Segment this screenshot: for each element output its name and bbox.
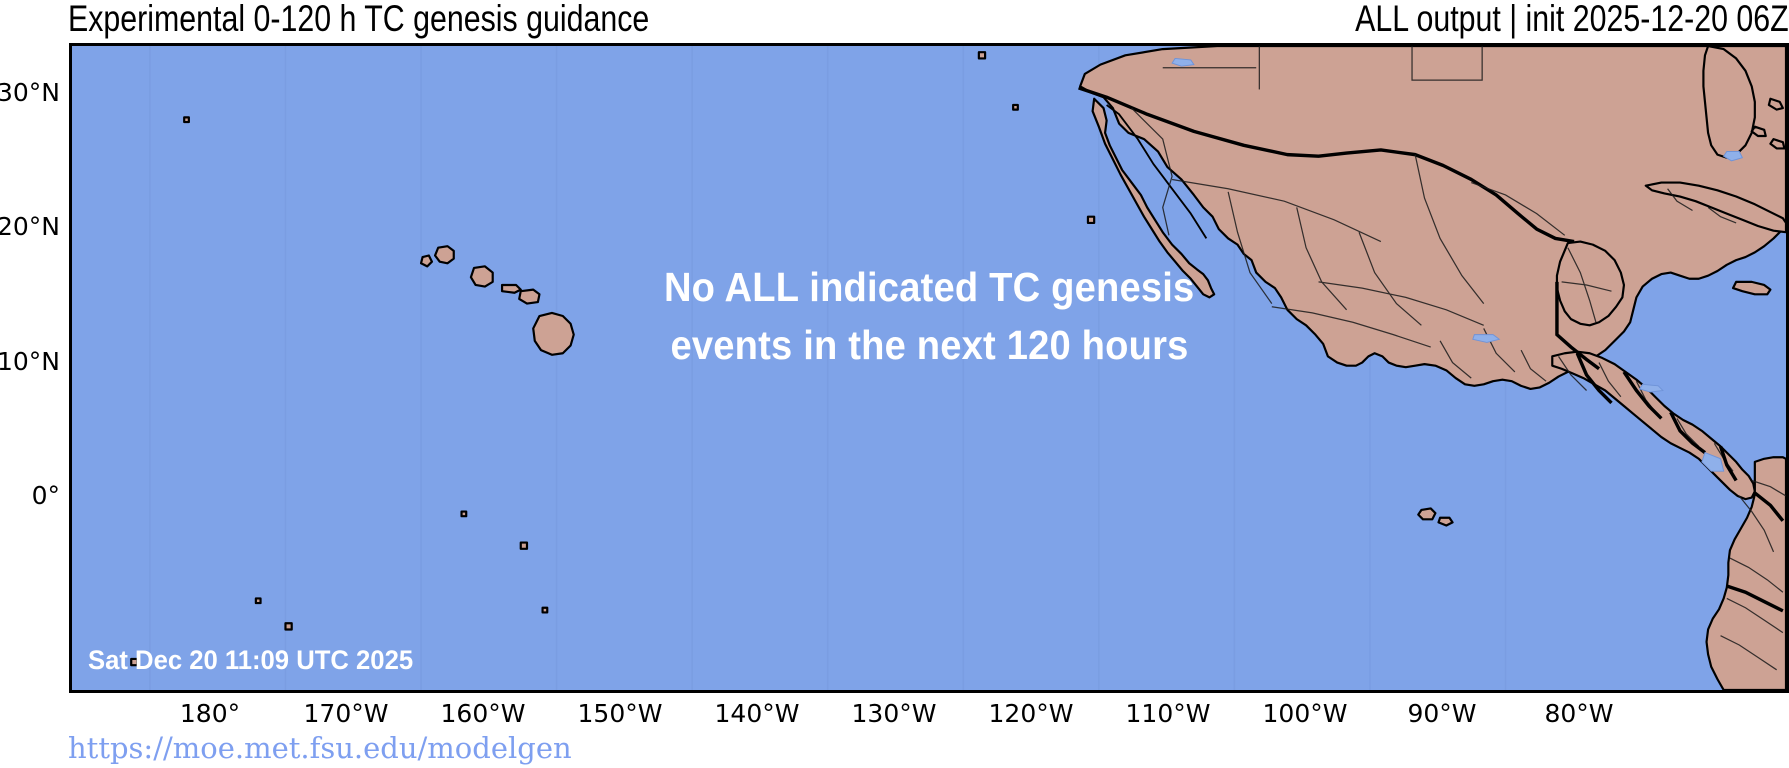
x-tick-0: 180° (180, 699, 240, 728)
x-tick-3: 150°W (578, 699, 663, 728)
y-tick-0: 30°N (0, 78, 60, 107)
x-tick-2: 160°W (441, 699, 526, 728)
header-bar: Experimental 0-120 h TC genesis guidance… (0, 0, 1789, 46)
tc-genesis-map-page: Experimental 0-120 h TC genesis guidance… (0, 0, 1789, 768)
x-tick-4: 140°W (715, 699, 800, 728)
hawaii-molokai (502, 285, 521, 293)
x-tick-8: 100°W (1263, 699, 1348, 728)
y-tick-1: 20°N (0, 212, 60, 241)
hawaii-niihau (421, 255, 432, 266)
y-tick-2: 10°N (0, 347, 60, 376)
page-title: Experimental 0-120 h TC genesis guidance (68, 0, 649, 40)
x-tick-1: 170°W (304, 699, 389, 728)
map-geography (72, 46, 1786, 690)
hawaii-maui (519, 290, 539, 304)
map-plot-area[interactable]: No ALL indicated TC genesis events in th… (69, 43, 1789, 693)
x-tick-5: 130°W (852, 699, 937, 728)
hawaii-kauai (435, 246, 454, 263)
x-tick-9: 90°W (1407, 699, 1476, 728)
timestamp-label: Sat Dec 20 11:09 UTC 2025 (88, 645, 413, 676)
header-init-info: ALL output | init 2025-12-20 06Z (1355, 0, 1789, 40)
source-url-link[interactable]: https://moe.met.fsu.edu/modelgen (68, 731, 572, 765)
hawaii-oahu (471, 266, 493, 286)
x-tick-7: 110°W (1126, 699, 1211, 728)
y-tick-3: 0° (32, 481, 60, 510)
x-tick-10: 80°W (1544, 699, 1613, 728)
x-tick-6: 120°W (989, 699, 1074, 728)
